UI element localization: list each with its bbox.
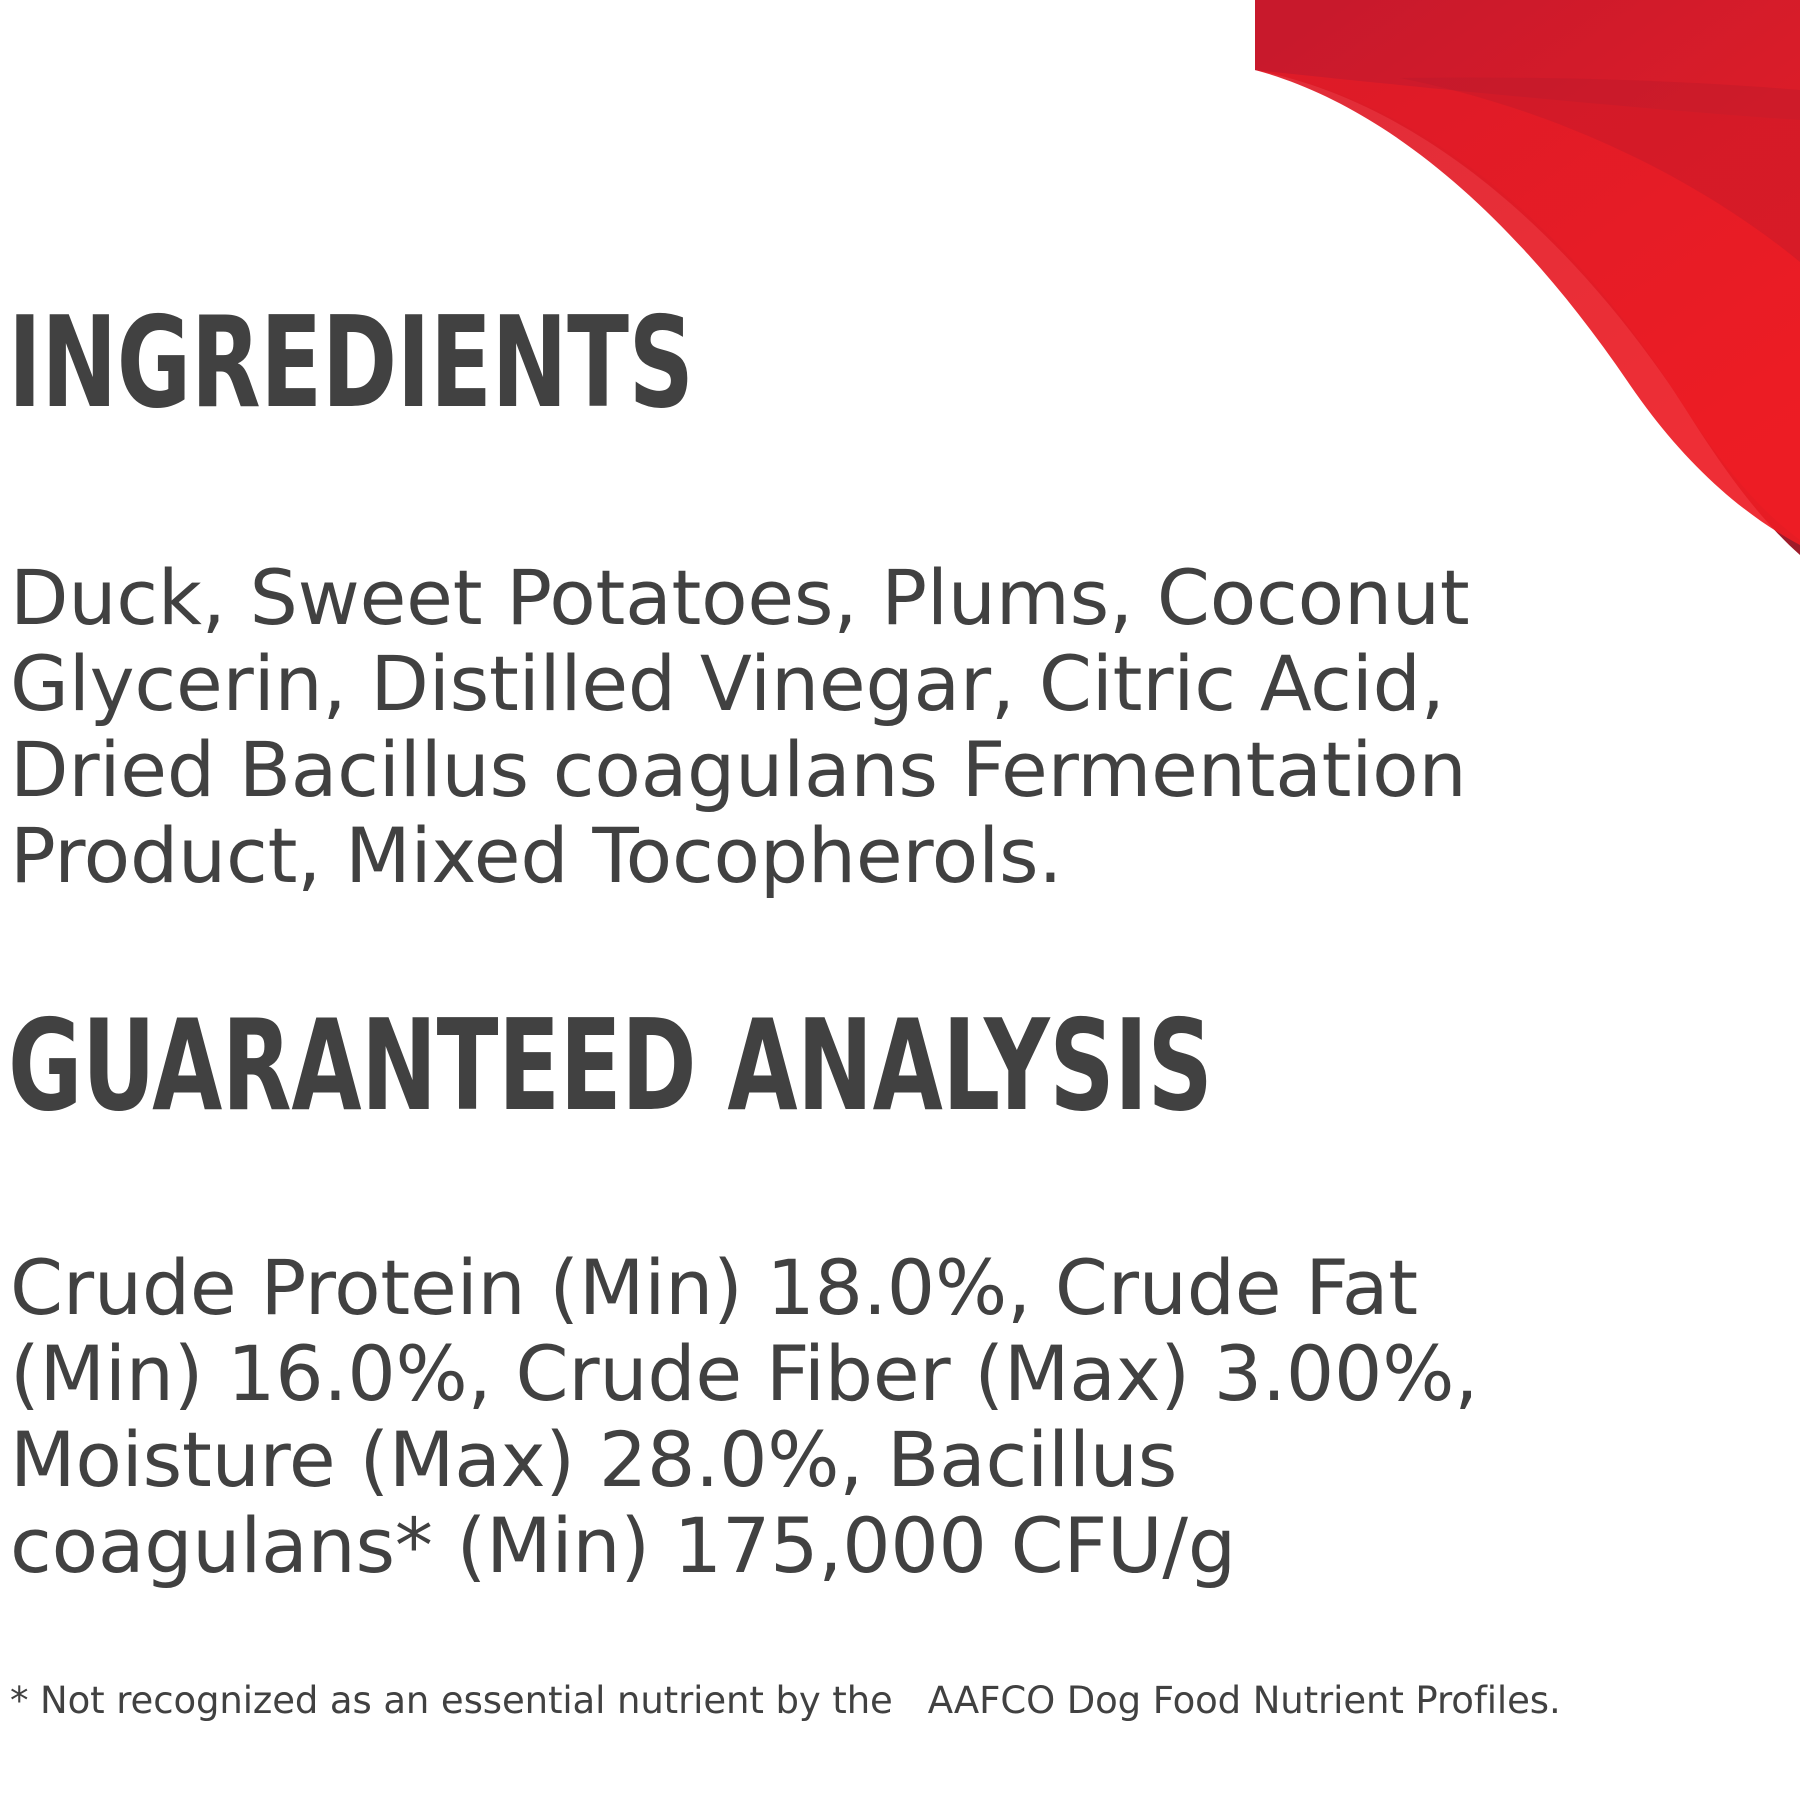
guaranteed-analysis-heading: GUARANTEED ANALYSIS xyxy=(8,1003,1212,1129)
ingredients-heading: INGREDIENTS xyxy=(8,300,694,426)
aafco-footnote: * Not recognized as an essential nutrien… xyxy=(10,1678,1770,1724)
label-content: INGREDIENTS Duck, Sweet Potatoes, Plums,… xyxy=(8,0,1788,1800)
product-label-panel: INGREDIENTS Duck, Sweet Potatoes, Plums,… xyxy=(0,0,1800,1800)
ingredients-text: Duck, Sweet Potatoes, Plums, Coconut Gly… xyxy=(10,555,1490,899)
guaranteed-analysis-text: Crude Protein (Min) 18.0%, Crude Fat (Mi… xyxy=(10,1245,1570,1589)
